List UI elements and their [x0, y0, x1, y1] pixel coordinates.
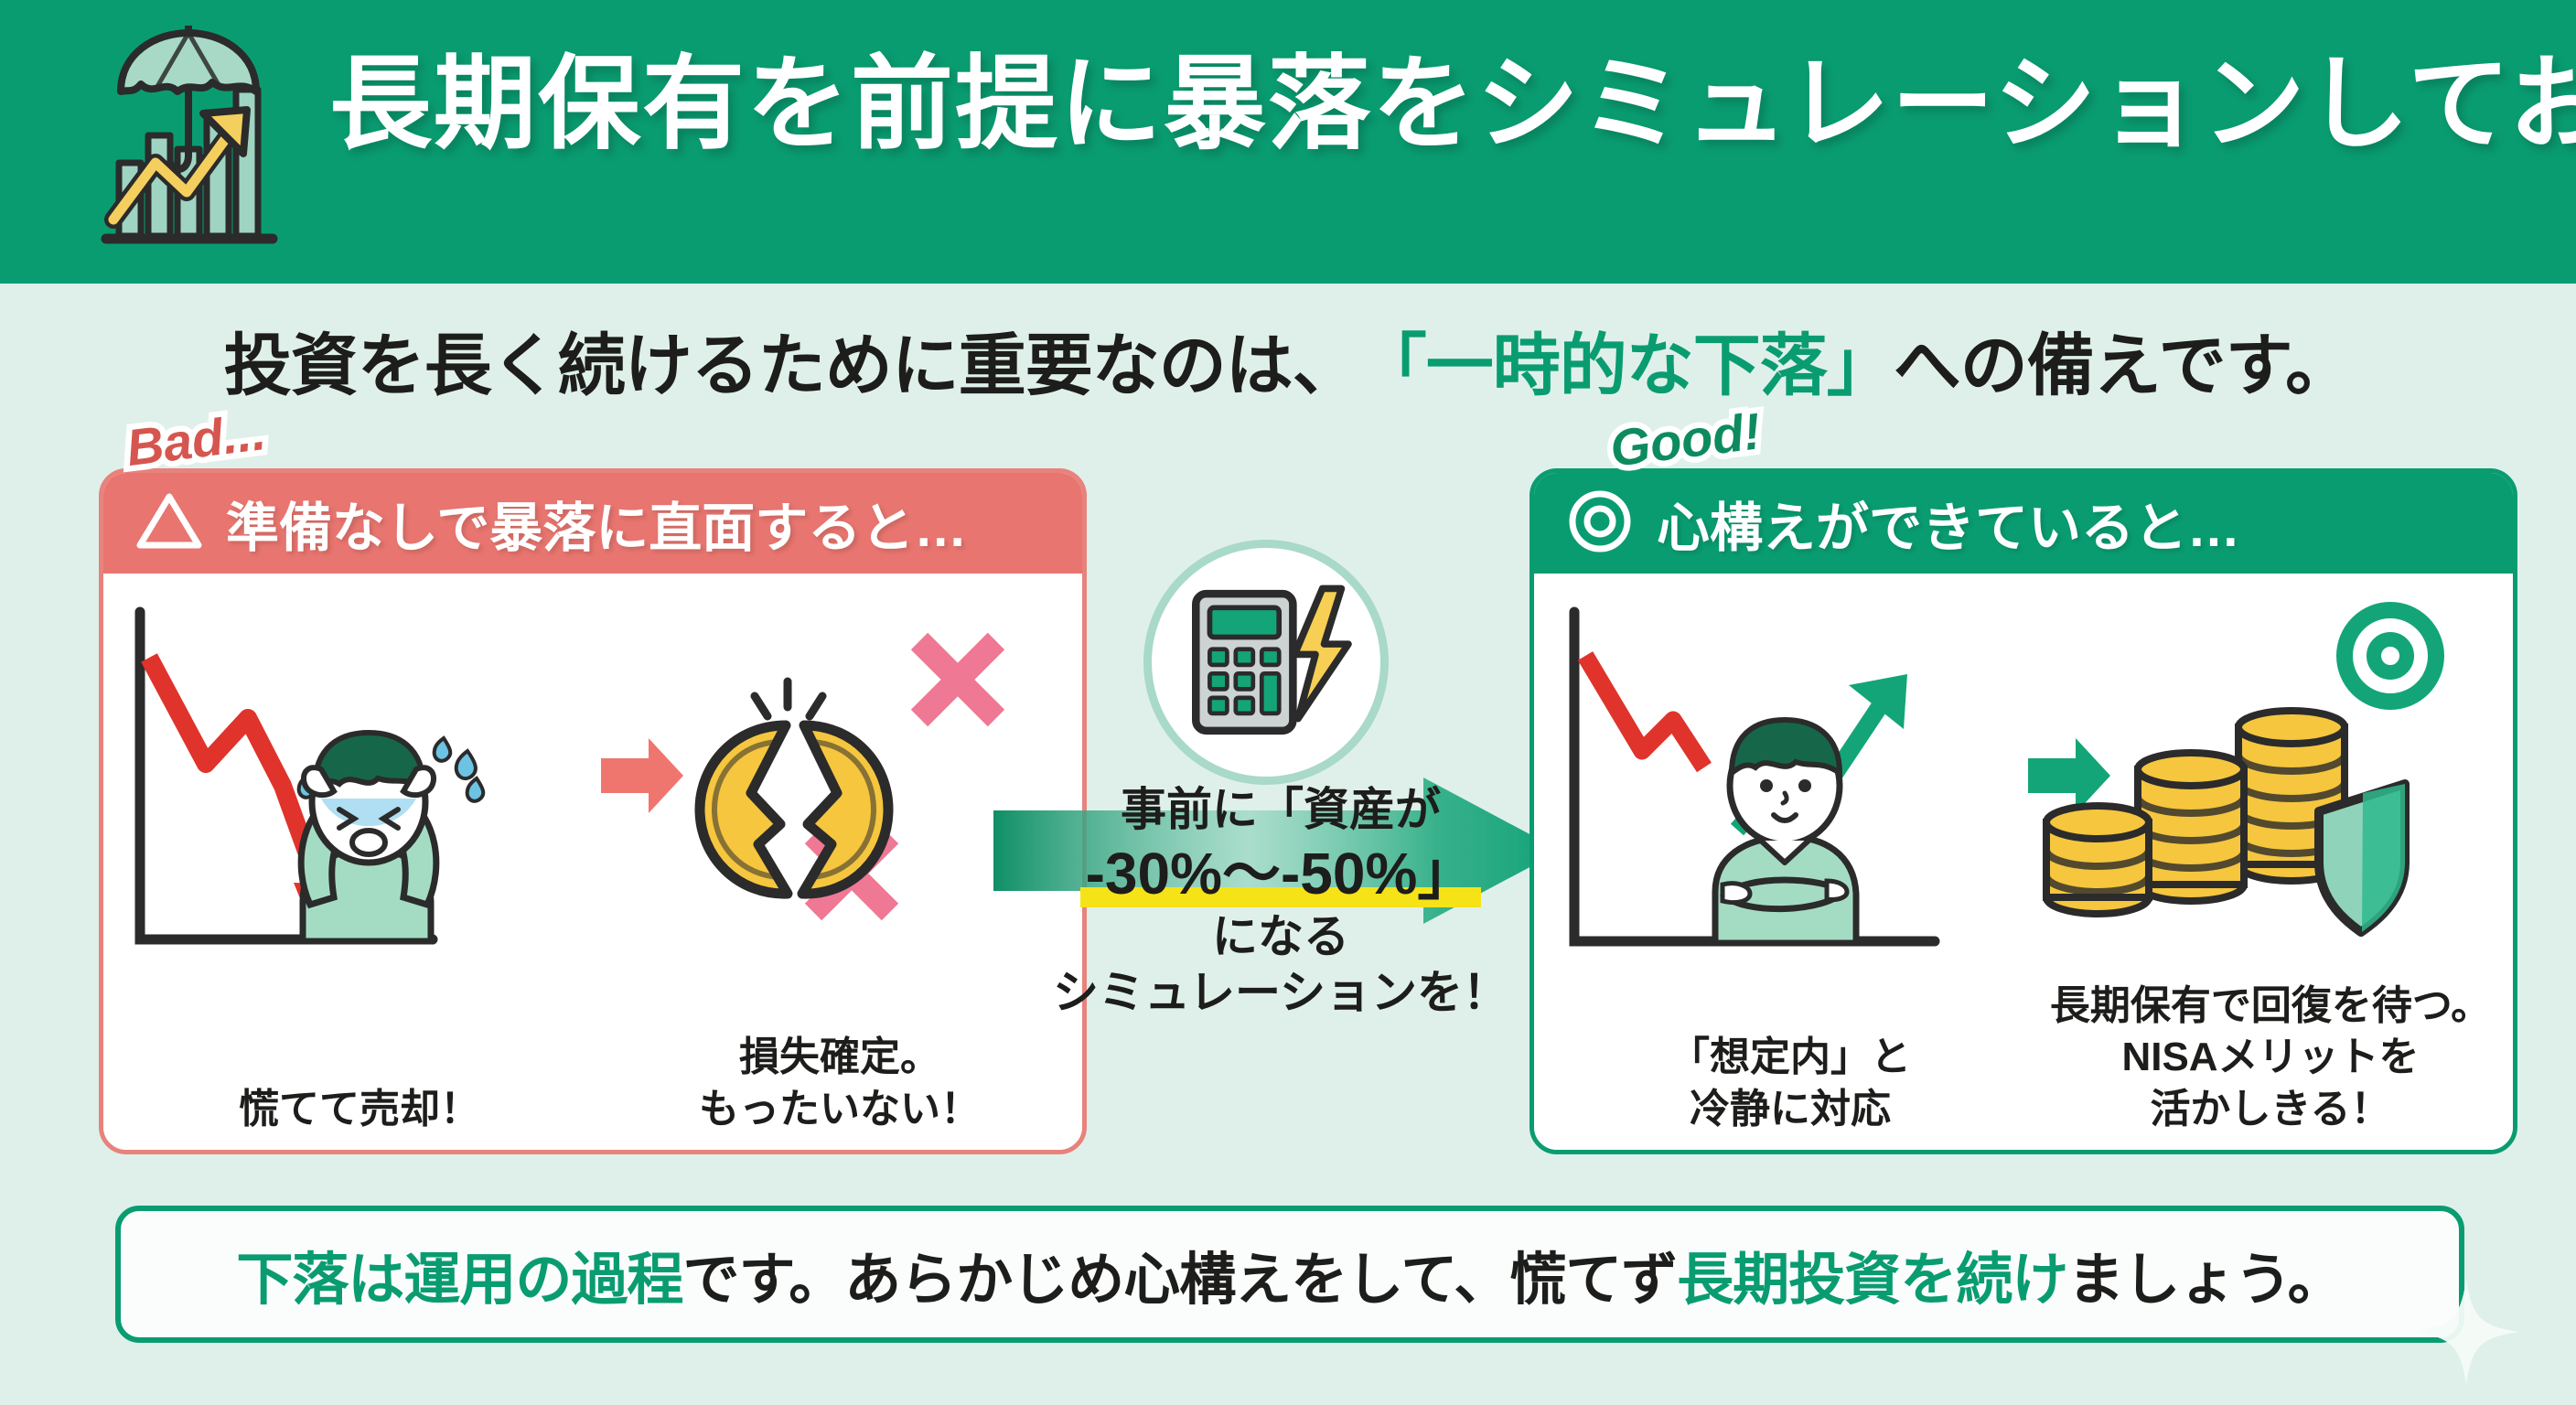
coin-stacks-shield-icon — [2028, 590, 2513, 983]
panel-bad: 準備なしで暴落に直面すると… — [99, 468, 1087, 1154]
panel-bad-title: 準備なしで暴落に直面すると… — [226, 485, 967, 562]
footer-text: 下落は運用の過程です。あらかじめ心構えをして、慌てず長期投資を続けましょう。 — [236, 1233, 2343, 1315]
page-title: 長期保有を前提に暴落をシミュレーションしておく — [329, 46, 2576, 164]
subtitle-highlight: 「一時的な下落」 — [1359, 311, 1894, 409]
panel-good-title: 心構えができていると… — [1657, 485, 2240, 562]
panel-good-body: 「想定内」と 冷静に対応 — [1534, 574, 2513, 1154]
center-line-2: -30%〜-50%」 — [1086, 838, 1476, 909]
page-header: 長期保有を前提に暴落をシミュレーションしておく — [0, 0, 2576, 284]
double-circle-icon — [1567, 488, 1633, 559]
panel-good: 心構えができていると… — [1529, 468, 2517, 1154]
panel-bad-header: 準備なしで暴落に直面すると… — [103, 473, 1082, 574]
infographic-canvas: 長期保有を前提に暴落をシミュレーションしておく 投資を長く続けるために重要なのは… — [0, 0, 2576, 1405]
center-callout-text: 事前に「資産が -30%〜-50%」 になる シミュレーションを！ — [1043, 782, 1519, 1021]
sparkle-icon — [2411, 1277, 2521, 1387]
panel-good-cell-1: 「想定内」と 冷静に対応 — [1534, 574, 2046, 1154]
panel-good-cell-1-caption: 「想定内」と 冷静に対応 — [1534, 1032, 2046, 1135]
subtitle-before: 投資を長く続けるために重要なのは、 — [224, 327, 1359, 403]
green-double-circle-icon — [2345, 610, 2436, 702]
good-badge: Good! — [1607, 401, 1765, 478]
center-line-4: シミュレーションを！ — [1043, 965, 1519, 1021]
umbrella-over-growth-chart-icon — [91, 26, 284, 254]
footer-part-2: です。あらかじめ心構えをして、慌てず — [682, 1249, 1677, 1312]
panel-good-cell-2-caption: 長期保有で回復を待つ。 NISAメリットを 活かしきる！ — [2028, 981, 2513, 1135]
panel-good-header: 心構えができていると… — [1534, 473, 2513, 574]
footer-part-4: ましょう。 — [2067, 1249, 2343, 1312]
footer-banner: 下落は運用の過程です。あらかじめ心構えをして、慌てず長期投資を続けましょう。 — [115, 1206, 2464, 1343]
falling-chart-panic-person-icon — [103, 590, 616, 983]
panel-bad-cell-2-caption: 損失確定。 もったいない！ — [597, 1032, 1082, 1135]
panel-bad-cell-1-caption: 慌てて売却！ — [103, 1084, 616, 1135]
footer-part-3: 長期投資を続け — [1677, 1249, 2067, 1312]
subtitle-after: への備えです。 — [1894, 327, 2352, 403]
calculator-with-lightning-icon — [1143, 540, 1389, 785]
panel-good-cell-2: 長期保有で回復を待つ。 NISAメリットを 活かしきる！ — [2028, 574, 2513, 1154]
footer-part-1: 下落は運用の過程 — [236, 1249, 682, 1312]
bad-badge: Bad... — [123, 402, 269, 477]
panel-bad-cell-1: 慌てて売却！ — [103, 574, 616, 1154]
subtitle: 投資を長く続けるために重要なのは、「一時的な下落」への備えです。 — [0, 311, 2576, 409]
dip-then-recovery-chart-calm-person-icon — [1534, 590, 2046, 983]
panel-bad-body: 慌てて売却！ — [103, 574, 1082, 1154]
center-line-1: 事前に「資産が — [1043, 782, 1519, 838]
center-line-3: になる — [1043, 909, 1519, 965]
warning-triangle-icon — [136, 492, 202, 555]
